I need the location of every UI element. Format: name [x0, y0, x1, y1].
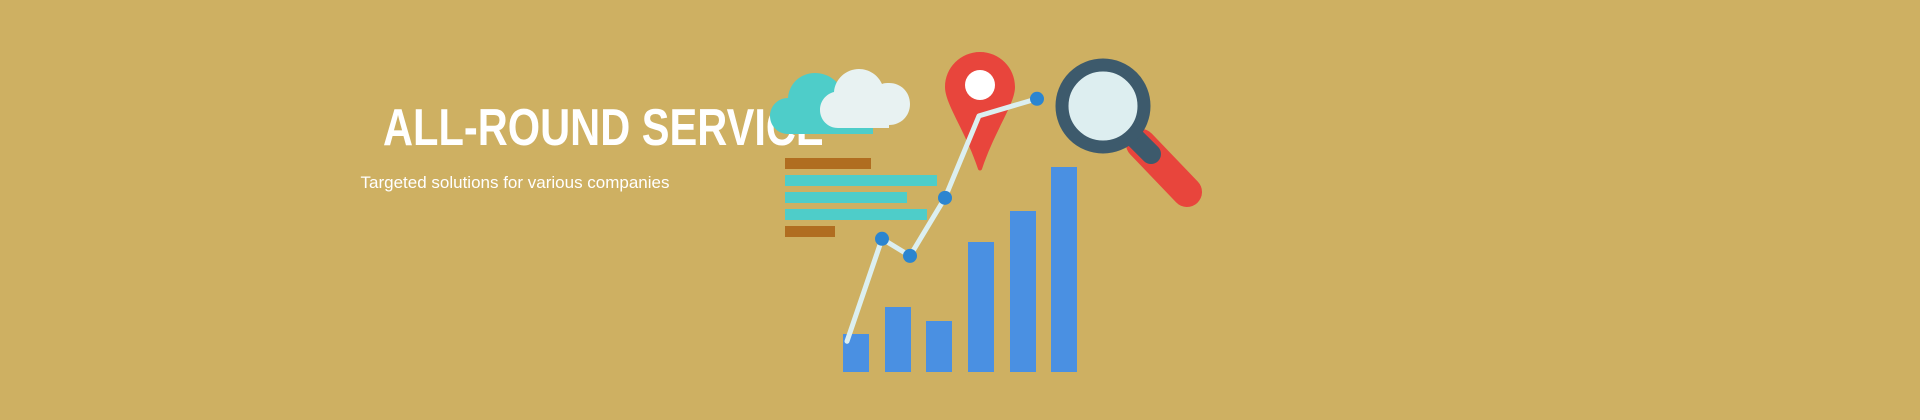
banner-root: ALL-ROUND SERVICE Targeted solutions for… [0, 0, 1920, 420]
cloud-icon [770, 60, 910, 138]
illustration-cluster [760, 40, 1240, 380]
page-title: ALL-ROUND SERVICE [383, 100, 647, 156]
cloud-group [770, 60, 910, 130]
trend-marker [875, 232, 889, 246]
trend-marker [903, 249, 917, 263]
trend-marker [938, 191, 952, 205]
cloud-front-icon [820, 69, 910, 128]
map-pin-hole-icon [965, 70, 995, 100]
bar-chart-group [835, 150, 1085, 372]
text-block: ALL-ROUND SERVICE Targeted solutions for… [350, 100, 680, 194]
page-subtitle: Targeted solutions for various companies [350, 172, 680, 194]
doc-line-5 [785, 226, 835, 237]
trend-line-icon [835, 150, 1085, 372]
trend-marker [1030, 92, 1044, 106]
